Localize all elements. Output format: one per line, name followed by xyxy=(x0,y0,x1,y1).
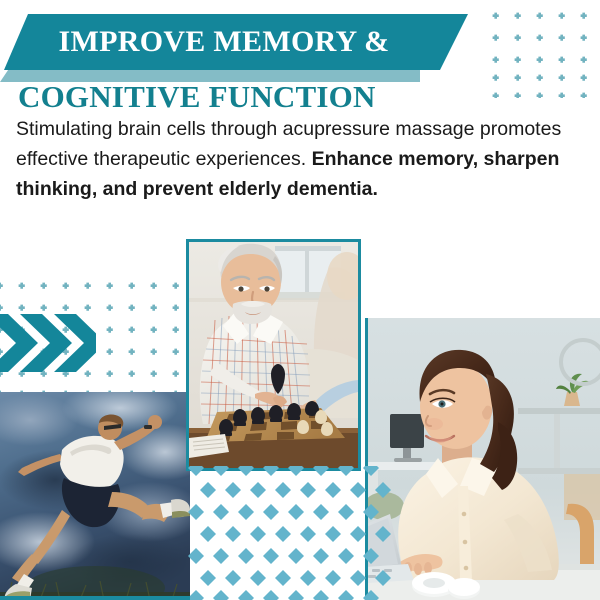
banner-main-bar: IMPROVE MEMORY & xyxy=(4,14,468,70)
body-paragraph: Stimulating brain cells through acupress… xyxy=(16,114,586,204)
dot-grid-top-right-icon xyxy=(488,8,600,98)
photo-athlete xyxy=(0,392,190,600)
banner-title: IMPROVE MEMORY & xyxy=(4,14,444,70)
poster-canvas: IMPROVE MEMORY & COGNITIVE FUNCTION Stim… xyxy=(0,0,600,600)
photo-chess-elderly-man xyxy=(186,239,361,471)
photo-woman-laptop xyxy=(365,318,600,600)
chevron-arrows-icon xyxy=(0,312,96,374)
page-title-line2: COGNITIVE FUNCTION xyxy=(18,79,376,115)
bottom-accent-strip xyxy=(0,596,190,600)
banner: IMPROVE MEMORY & xyxy=(0,14,468,82)
diamond-grid-icon xyxy=(188,466,393,600)
